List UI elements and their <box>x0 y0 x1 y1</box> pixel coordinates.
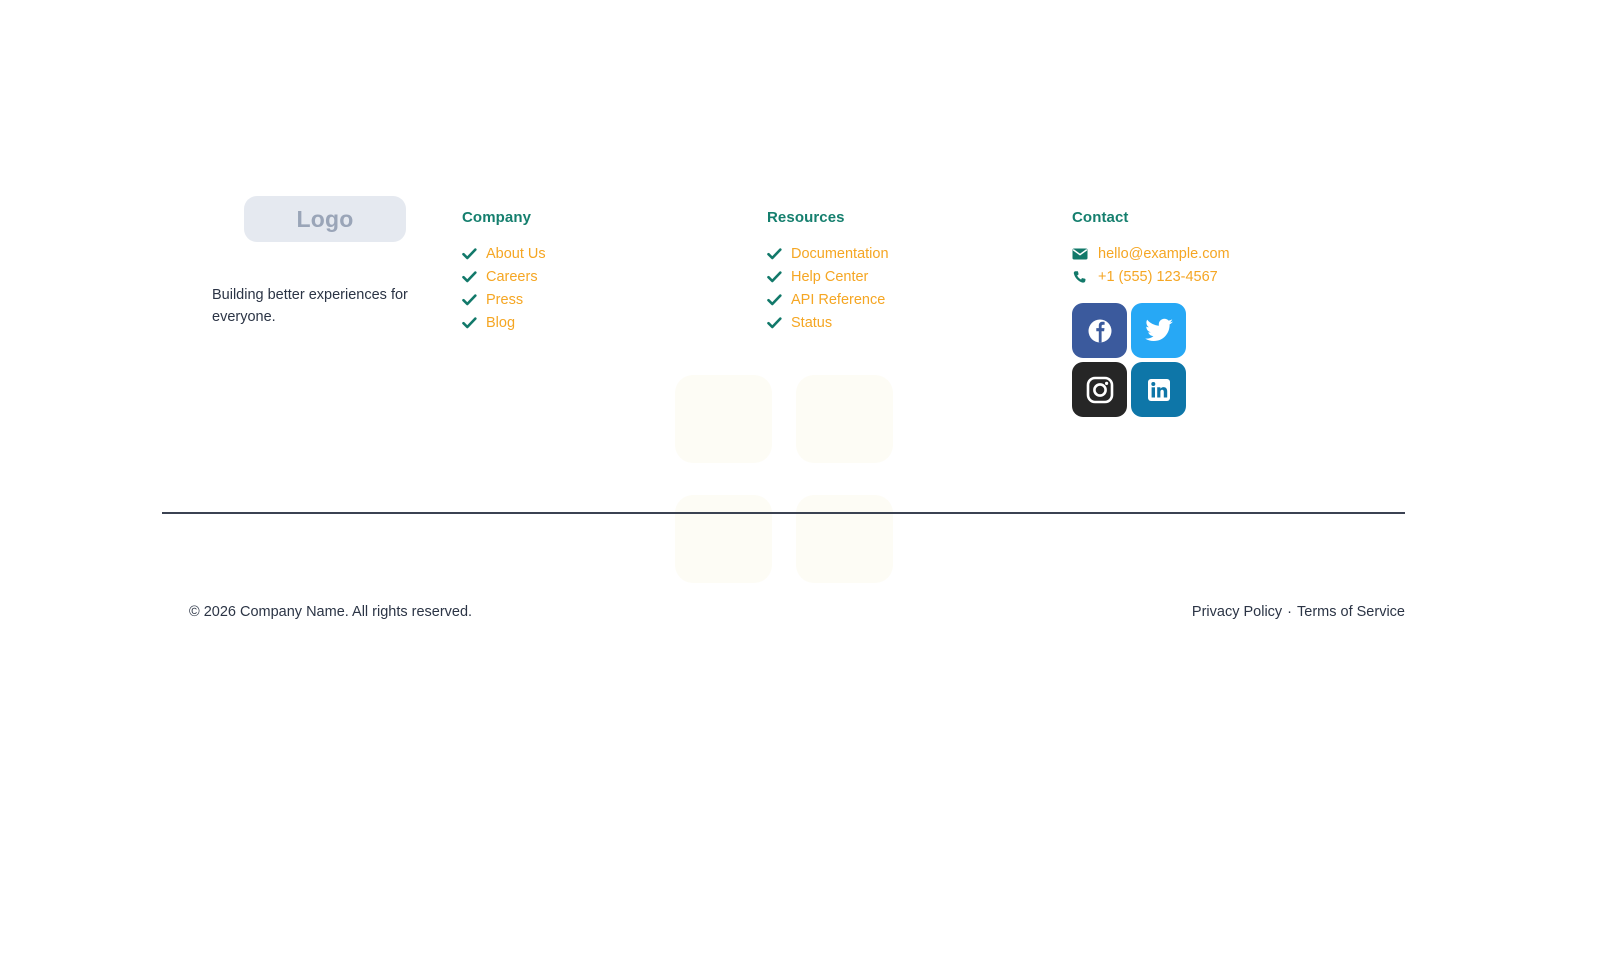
twitter-icon <box>1144 318 1174 344</box>
footer-link-label: Documentation <box>791 246 889 262</box>
check-icon <box>767 293 782 307</box>
contact-phone[interactable]: +1 (555) 123-4567 <box>1072 269 1372 285</box>
footer-link-press[interactable]: Press <box>462 292 767 308</box>
footer-bottom-bar: © 2026 Company Name. All rights reserved… <box>162 604 1405 620</box>
footer-divider <box>162 512 1405 514</box>
site-footer: Logo Building better experiences for eve… <box>0 0 1600 978</box>
footer-link-label: Careers <box>486 269 538 285</box>
contact-column: Contact hello@example.com +1 (555) 123-4… <box>1072 196 1372 417</box>
footer-link-label: Status <box>791 315 832 331</box>
check-icon <box>767 247 782 261</box>
footer-link-blog[interactable]: Blog <box>462 315 767 331</box>
social-link-instagram[interactable] <box>1072 362 1127 417</box>
company-column-title: Company <box>462 209 767 226</box>
logo-placeholder[interactable]: Logo <box>244 196 406 242</box>
logo-text: Logo <box>297 206 354 233</box>
company-link-list: About Us Careers Press <box>462 246 767 331</box>
footer-link-status[interactable]: Status <box>767 315 1072 331</box>
decorative-square <box>675 495 772 583</box>
footer-link-label: API Reference <box>791 292 885 308</box>
decorative-square <box>796 495 893 583</box>
social-links <box>1072 303 1242 417</box>
legal-separator: · <box>1287 604 1292 620</box>
facebook-icon <box>1085 316 1115 346</box>
contact-column-title: Contact <box>1072 209 1372 226</box>
footer-link-careers[interactable]: Careers <box>462 269 767 285</box>
terms-of-service-link[interactable]: Terms of Service <box>1297 604 1405 620</box>
contact-list: hello@example.com +1 (555) 123-4567 <box>1072 246 1372 285</box>
phone-icon <box>1072 270 1088 284</box>
footer-link-label: Press <box>486 292 523 308</box>
social-link-facebook[interactable] <box>1072 303 1127 358</box>
resources-column-title: Resources <box>767 209 1072 226</box>
envelope-icon <box>1072 247 1088 261</box>
instagram-icon <box>1086 376 1114 404</box>
linkedin-icon <box>1145 376 1173 404</box>
social-link-linkedin[interactable] <box>1131 362 1186 417</box>
footer-link-label: About Us <box>486 246 546 262</box>
footer-link-label: Blog <box>486 315 515 331</box>
check-icon <box>462 316 477 330</box>
contact-phone-label: +1 (555) 123-4567 <box>1098 269 1218 285</box>
copyright-text: © 2026 Company Name. All rights reserved… <box>189 604 472 620</box>
resources-column: Resources Documentation Help Center <box>767 196 1072 338</box>
footer-link-about-us[interactable]: About Us <box>462 246 767 262</box>
footer-link-help-center[interactable]: Help Center <box>767 269 1072 285</box>
footer-link-documentation[interactable]: Documentation <box>767 246 1072 262</box>
resources-link-list: Documentation Help Center API Reference <box>767 246 1072 331</box>
check-icon <box>462 270 477 284</box>
brand-tagline: Building better experiences for everyone… <box>212 284 412 329</box>
check-icon <box>462 293 477 307</box>
legal-links: Privacy Policy · Terms of Service <box>1192 604 1405 620</box>
contact-email-label: hello@example.com <box>1098 246 1230 262</box>
check-icon <box>462 247 477 261</box>
social-link-twitter[interactable] <box>1131 303 1186 358</box>
check-icon <box>767 316 782 330</box>
brand-column: Logo Building better experiences for eve… <box>162 196 462 329</box>
footer-link-api-reference[interactable]: API Reference <box>767 292 1072 308</box>
check-icon <box>767 270 782 284</box>
company-column: Company About Us Careers <box>462 196 767 338</box>
privacy-policy-link[interactable]: Privacy Policy <box>1192 604 1282 620</box>
footer-columns: Logo Building better experiences for eve… <box>162 196 1405 417</box>
footer-link-label: Help Center <box>791 269 868 285</box>
contact-email[interactable]: hello@example.com <box>1072 246 1372 262</box>
